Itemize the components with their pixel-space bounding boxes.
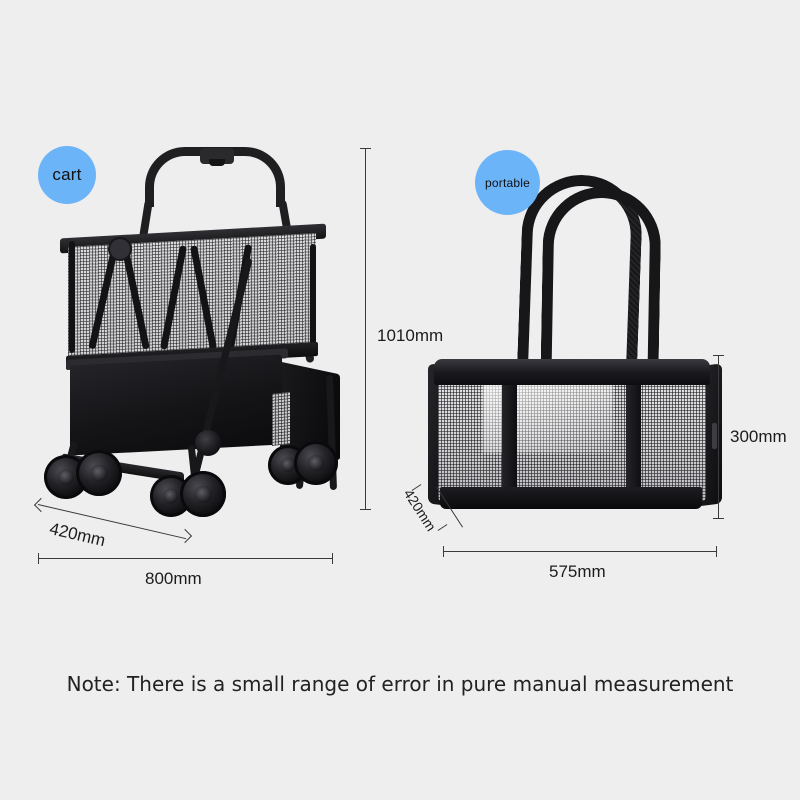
cart-handle-grip-clip xyxy=(200,148,234,164)
badge-cart: cart xyxy=(38,146,96,204)
badge-cart-label: cart xyxy=(52,165,81,185)
portable-carrier-illustration xyxy=(430,165,730,525)
carrier-base-panel xyxy=(440,487,702,509)
cart-basket-post xyxy=(310,244,316,354)
badge-portable-label: portable xyxy=(485,176,530,190)
cart-width-label: 800mm xyxy=(145,569,202,589)
cart-fold-hinge xyxy=(108,237,132,261)
carrier-strap-band xyxy=(502,377,517,499)
carrier-strap-band xyxy=(626,377,641,499)
carrier-zipper-pull xyxy=(712,423,717,449)
measurement-note: Note: There is a small range of error in… xyxy=(0,672,800,696)
cart-lower-storage-bin xyxy=(70,354,282,455)
cart-wheel xyxy=(180,471,226,517)
cart-product-illustration xyxy=(40,145,340,515)
diagram-canvas: 1010mm 420mm 800mm 300mm 420mm 575mm c xyxy=(0,0,800,800)
cart-wheel xyxy=(195,430,221,456)
cart-wheel xyxy=(294,441,338,485)
carrier-shoulder-strap xyxy=(540,186,661,388)
cart-basket-post xyxy=(69,241,75,353)
carrier-mesh-body xyxy=(438,373,706,501)
cart-wheel xyxy=(76,450,122,496)
cart-lower-bin-mesh-window xyxy=(272,392,290,446)
carrier-top-rim xyxy=(434,359,710,385)
carrier-height-label: 300mm xyxy=(730,427,787,447)
cart-depth-label: 420mm xyxy=(48,519,108,551)
cart-height-label: 1010mm xyxy=(377,326,443,346)
carrier-width-label: 575mm xyxy=(549,562,606,582)
badge-portable: portable xyxy=(475,150,540,215)
